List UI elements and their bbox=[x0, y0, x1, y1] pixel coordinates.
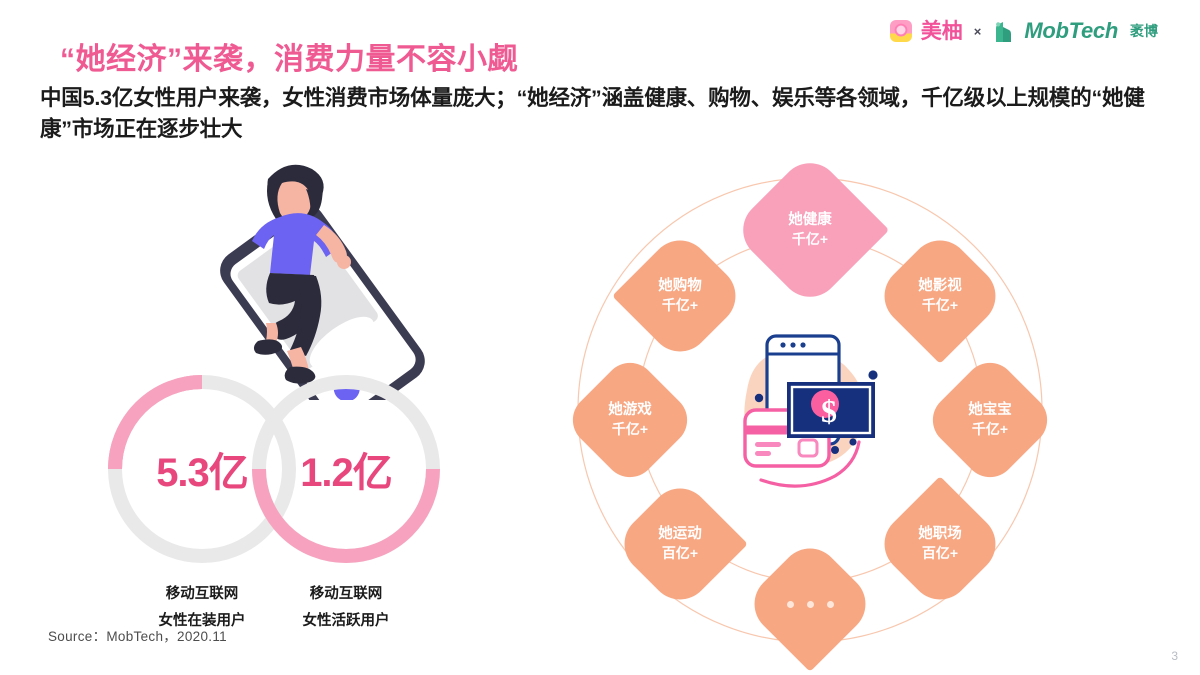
left-panel: 5.3亿 1.2亿 移动互联网 女性在装用户 移动互联网 女性活跃用户 bbox=[0, 150, 520, 620]
node-text: 她游戏 千亿+ bbox=[608, 401, 652, 439]
node-text: 她宝宝 千亿+ bbox=[968, 401, 1012, 439]
node-value: 千亿+ bbox=[918, 296, 962, 315]
node-label: 她宝宝 bbox=[968, 401, 1012, 421]
page-number: 3 bbox=[1171, 649, 1178, 663]
node-label: 她职场 bbox=[918, 525, 962, 545]
category-node-more[interactable] bbox=[762, 556, 858, 652]
node-text: 她购物 千亿+ bbox=[658, 277, 702, 315]
category-node-she-games[interactable]: 她游戏 千亿+ bbox=[582, 372, 678, 468]
mobtech-cn-label: 袤博 bbox=[1130, 24, 1158, 38]
node-text: 她影视 千亿+ bbox=[918, 277, 962, 315]
node-label: 她购物 bbox=[658, 277, 702, 297]
svg-text:$: $ bbox=[821, 393, 837, 429]
category-node-she-workplace[interactable]: 她职场 百亿+ bbox=[892, 496, 988, 592]
metric-rings: 5.3亿 1.2亿 移动互联网 女性在装用户 移动互联网 女性活跃用户 bbox=[100, 375, 460, 575]
node-label: 她游戏 bbox=[608, 401, 652, 421]
meiyou-label: 美柚 bbox=[921, 21, 963, 42]
node-text: 她运动 百亿+ bbox=[658, 525, 702, 563]
category-node-she-shopping[interactable]: 她购物 千亿+ bbox=[632, 248, 728, 344]
node-text: 她职场 百亿+ bbox=[918, 525, 962, 563]
node-value: 百亿+ bbox=[658, 544, 702, 563]
ellipsis-icon bbox=[787, 601, 834, 608]
category-node-she-film[interactable]: 她影视 千亿+ bbox=[892, 248, 988, 344]
node-label: 她影视 bbox=[918, 277, 962, 297]
phone-banknote-creditcard-illustration: $ bbox=[725, 320, 900, 500]
flower-app-icon bbox=[890, 20, 912, 42]
woman-standing-on-phone-illustration bbox=[198, 155, 428, 400]
node-text: 她健康 千亿+ bbox=[788, 211, 832, 249]
metric-caption-1: 移动互联网 女性活跃用户 bbox=[252, 581, 440, 635]
category-node-she-baby[interactable]: 她宝宝 千亿+ bbox=[942, 372, 1038, 468]
metric-value-1: 1.2亿 bbox=[252, 440, 440, 498]
page-subtitle: 中国5.3亿女性用户来袭，女性消费市场体量庞大；“她经济”涵盖健康、购物、娱乐等… bbox=[40, 83, 1170, 145]
node-label: 她运动 bbox=[658, 525, 702, 545]
slide-root: 美柚 × MobTech 袤博 “她经济”来袭，消费力量不容小觑 中国5.3亿女… bbox=[0, 0, 1200, 675]
category-node-she-health[interactable]: 她健康 千亿+ bbox=[754, 174, 866, 286]
metric-caption-1-line2: 女性活跃用户 bbox=[252, 608, 440, 635]
category-node-she-sports[interactable]: 她运动 百亿+ bbox=[632, 496, 728, 592]
category-cluster: $ 她健康 千亿+ 她购物 千亿+ bbox=[560, 160, 1060, 660]
brand-separator: × bbox=[974, 24, 982, 39]
node-value: 千亿+ bbox=[788, 230, 832, 249]
page-title: “她经济”来袭，消费力量不容小觑 bbox=[60, 34, 518, 78]
mobtech-logo-icon bbox=[992, 21, 1015, 42]
node-value: 千亿+ bbox=[608, 420, 652, 439]
node-value: 百亿+ bbox=[918, 544, 962, 563]
node-label: 她健康 bbox=[788, 211, 832, 231]
node-value: 千亿+ bbox=[658, 296, 702, 315]
metric-ring-1: 1.2亿 bbox=[252, 375, 440, 563]
brand-bar: 美柚 × MobTech 袤博 bbox=[890, 20, 1158, 42]
source-note: Source：MobTech，2020.11 bbox=[48, 625, 227, 645]
node-value: 千亿+ bbox=[968, 420, 1012, 439]
metric-caption-1-line1: 移动互联网 bbox=[252, 581, 440, 608]
mobtech-label: MobTech bbox=[1024, 20, 1118, 42]
